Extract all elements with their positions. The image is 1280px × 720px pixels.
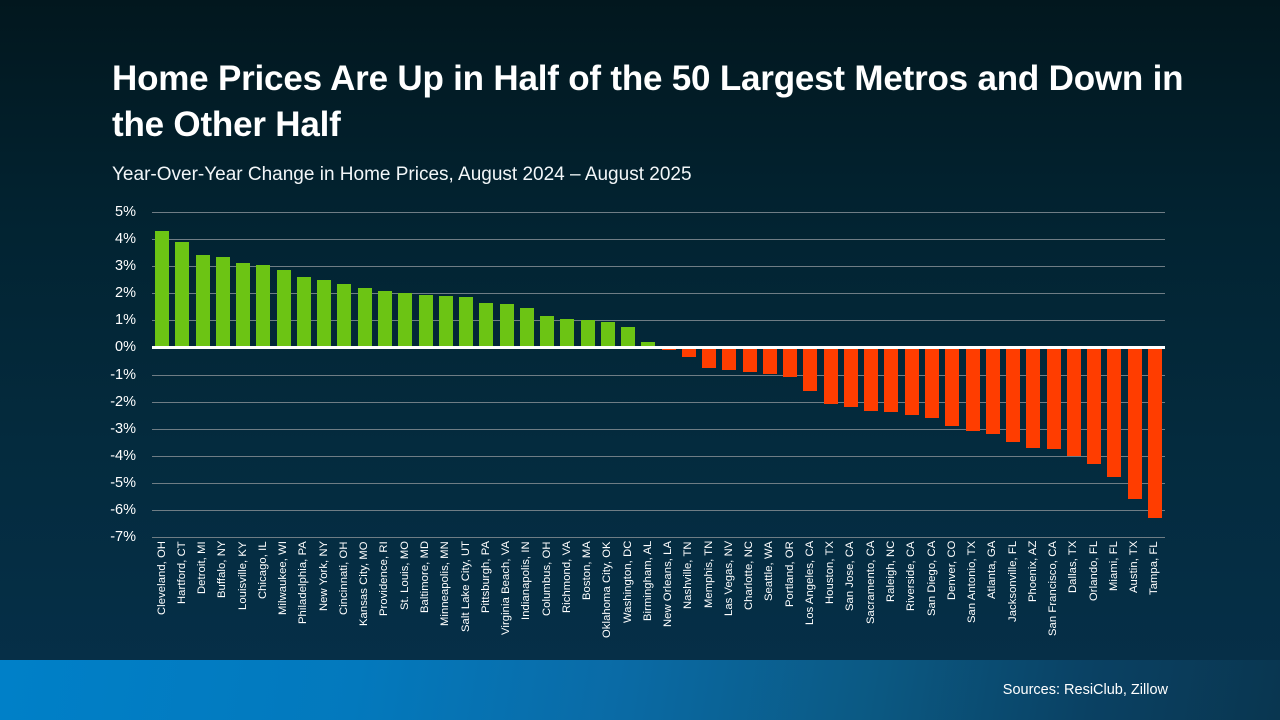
y-axis-labels: 5%4%3%2%1%0%-1%-2%-3%-4%-5%-6%-7% [0,212,146,537]
x-axis-tick-label: Seattle, WA [763,541,775,646]
x-axis-tick-label: St. Louis, MO [399,541,411,646]
x-axis-tick-label: Louisville, KY [237,541,249,646]
bar [419,295,433,348]
x-axis-tick-label: Dallas, TX [1067,541,1079,646]
x-axis-tick-label: Miami, FL [1108,541,1120,646]
bar [884,347,898,412]
x-axis-tick-label: Raleigh, NC [885,541,897,646]
x-axis-tick-label: Los Angeles, CA [804,541,816,646]
y-axis-tick-label: -4% [110,448,136,464]
y-axis-tick-label: -1% [110,367,136,383]
bar [155,231,169,347]
y-axis-tick-label: -7% [110,529,136,545]
bar [824,347,838,404]
x-axis-tick-label: Chicago, IL [257,541,269,646]
bar [966,347,980,431]
bar-chart: 5%4%3%2%1%0%-1%-2%-3%-4%-5%-6%-7% Clevel… [0,0,1280,660]
bar [1087,347,1101,463]
bar [621,327,635,347]
bar [216,257,230,348]
plot-area [152,212,1165,537]
x-axis-tick-label: Atlanta, GA [986,541,998,646]
y-axis-tick-label: 3% [115,258,136,274]
bar [256,265,270,348]
y-axis-tick-label: -2% [110,394,136,410]
x-axis-tick-label: Portland, OR [784,541,796,646]
y-axis-tick-label: 0% [115,339,136,355]
bar [763,347,777,374]
y-axis-tick-label: -5% [110,475,136,491]
x-axis-tick-label: Charlotte, NC [743,541,755,646]
bar [702,347,716,367]
bar [439,296,453,347]
x-axis-tick-label: Columbus, OH [541,541,553,646]
y-axis-tick-label: 2% [115,285,136,301]
x-axis-tick-label: Salt Lake City, UT [460,541,472,646]
y-axis-tick-label: 5% [115,204,136,220]
x-axis-tick-label: Riverside, CA [905,541,917,646]
x-axis-tick-label: Pittsburgh, PA [480,541,492,646]
x-axis-tick-label: Las Vegas, NV [723,541,735,646]
bar [317,280,331,348]
y-axis-tick-label: 1% [115,312,136,328]
y-axis-tick-label: -3% [110,421,136,437]
bar [175,242,189,348]
x-axis-tick-label: Washington, DC [622,541,634,646]
bar [1026,347,1040,447]
bar [722,347,736,370]
y-axis-tick-label: -6% [110,502,136,518]
x-axis-tick-label: Denver, CO [946,541,958,646]
bar [581,320,595,347]
bar [1128,347,1142,499]
bar [337,284,351,348]
x-axis-tick-label: Jacksonville, FL [1007,541,1019,646]
x-axis-tick-label: San Jose, CA [844,541,856,646]
x-axis-tick-label: Indianapolis, IN [520,541,532,646]
x-axis-tick-label: Kansas City, MO [358,541,370,646]
x-axis-tick-label: Tampa, FL [1148,541,1160,646]
bar [277,270,291,347]
bar [378,291,392,348]
bar [844,347,858,407]
x-axis-tick-label: New Orleans, LA [662,541,674,646]
gridline [152,537,1165,538]
x-axis-tick-label: Virginia Beach, VA [500,541,512,646]
x-axis-tick-label: San Diego, CA [926,541,938,646]
x-axis-tick-label: Oklahoma City, OK [601,541,613,646]
x-axis-tick-label: Buffalo, NY [216,541,228,646]
bar [500,304,514,347]
bar [1148,347,1162,518]
x-axis-tick-label: Richmond, VA [561,541,573,646]
x-axis-tick-label: Boston, MA [581,541,593,646]
bar [196,255,210,347]
bar [520,308,534,347]
x-axis-tick-label: New York, NY [318,541,330,646]
bar [601,322,615,348]
bar [358,288,372,348]
bar [1107,347,1121,477]
x-axis-tick-label: Austin, TX [1128,541,1140,646]
x-axis-tick-label: Detroit, MI [196,541,208,646]
bar [1047,347,1061,449]
x-axis-tick-label: Birmingham, AL [642,541,654,646]
bar [236,263,250,347]
x-axis-tick-label: Providence, RI [378,541,390,646]
bar [945,347,959,426]
zero-axis-line [152,346,1165,349]
y-axis-tick-label: 4% [115,231,136,247]
bar [783,347,797,377]
x-axis-tick-label: San Francisco, CA [1047,541,1059,646]
bar-series [152,212,1165,537]
x-axis-tick-label: Nashville, TN [682,541,694,646]
x-axis-tick-label: Baltimore, MD [419,541,431,646]
footer-bar: Sources: ResiClub, Zillow [0,660,1280,720]
bar [1006,347,1020,442]
x-axis-tick-label: Cleveland, OH [156,541,168,646]
x-axis-tick-label: Hartford, CT [176,541,188,646]
bar [803,347,817,390]
x-axis-tick-label: Cincinnati, OH [338,541,350,646]
bar [398,293,412,347]
x-axis-tick-label: Phoenix, AZ [1027,541,1039,646]
bar [1067,347,1081,455]
x-axis-tick-label: San Antonio, TX [966,541,978,646]
bar [560,319,574,347]
sources-note: Sources: ResiClub, Zillow [1003,682,1168,698]
x-axis-tick-label: Houston, TX [824,541,836,646]
x-axis-tick-label: Milwaukee, WI [277,541,289,646]
x-axis-tick-label: Memphis, TN [703,541,715,646]
bar [540,316,554,347]
bar [743,347,757,371]
x-axis-tick-label: Minneapolis, MN [439,541,451,646]
x-axis-tick-label: Orlando, FL [1088,541,1100,646]
x-axis-tick-label: Sacramento, CA [865,541,877,646]
bar [905,347,919,415]
bar [925,347,939,417]
x-axis-labels: Cleveland, OHHartford, CTDetroit, MIBuff… [152,541,1165,651]
bar [459,297,473,347]
bar [297,277,311,347]
bar [986,347,1000,434]
bar [479,303,493,348]
bar [864,347,878,411]
x-axis-tick-label: Philadelphia, PA [297,541,309,646]
